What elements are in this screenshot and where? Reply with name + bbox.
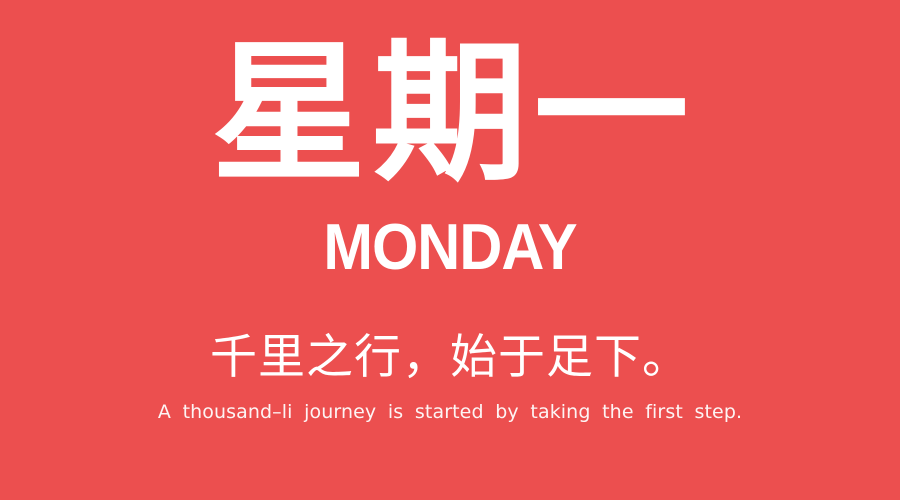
- quote-text-english: A thousand–li journey is started by taki…: [0, 401, 900, 424]
- daily-quote-card: 星期一 MONDAY 千里之行，始于足下。 A thousand–li jour…: [0, 0, 900, 500]
- quote-text-chinese: 千里之行，始于足下。: [0, 330, 900, 385]
- day-name-english: MONDAY: [18, 216, 882, 280]
- quote-block: 千里之行，始于足下。 A thousand–li journey is star…: [0, 330, 900, 424]
- day-name-chinese: 星期一: [0, 38, 900, 190]
